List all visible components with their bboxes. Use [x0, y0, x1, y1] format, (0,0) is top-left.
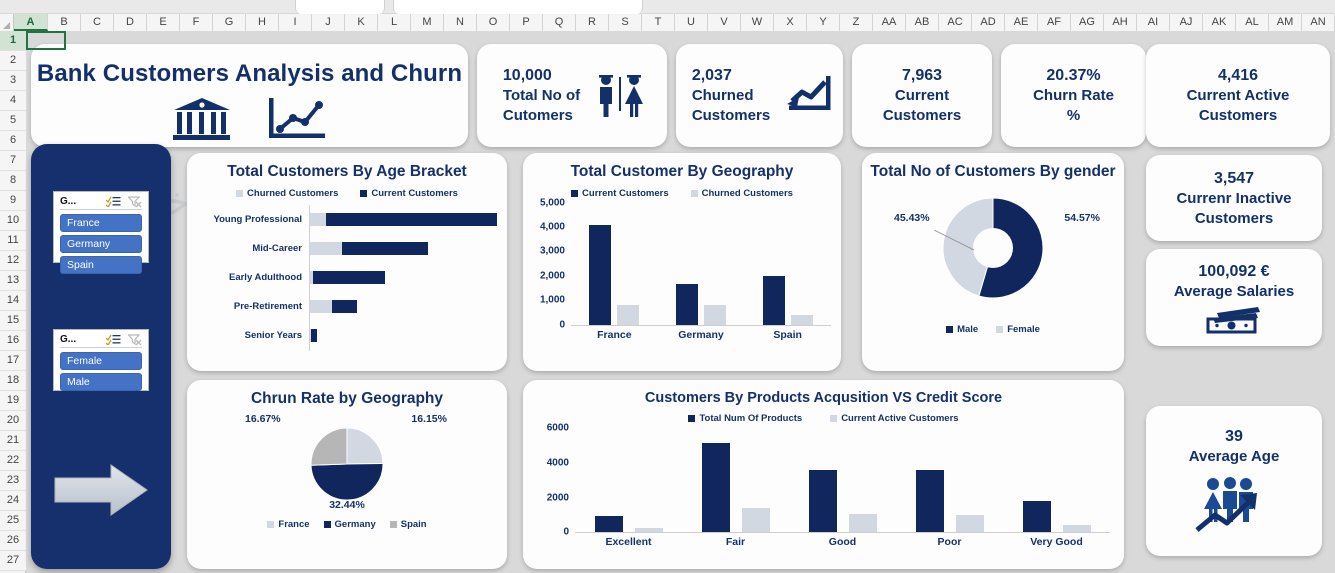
kpi-value-age: 39: [1189, 426, 1280, 447]
legend-item-female: Female: [996, 324, 1040, 335]
bar-series-1: [595, 516, 623, 532]
legend-item-male: Male: [946, 324, 978, 335]
bar-track: [309, 329, 497, 342]
column-header-ag[interactable]: AG: [1071, 14, 1104, 31]
kpi-label-total-line2: Cutomers: [503, 106, 580, 126]
category-axis-line: [571, 325, 831, 326]
column-header-r[interactable]: R: [576, 14, 609, 31]
pie-label-france: 16.15%: [411, 413, 447, 425]
kpi-card-average-salaries: 100,092 € Average Salaries: [1146, 249, 1322, 346]
bar-row: Early Adulthood: [197, 263, 497, 292]
bar-group: [896, 470, 1003, 533]
bar-segment-current: [342, 242, 429, 255]
x-axis-category-label: Poor: [896, 536, 1003, 548]
kpi-card-current-inactive: 3,547 Currenr Inactive Customers: [1146, 155, 1322, 241]
chart-card-churn-rate-geography: Chrun Rate by Geography 16.67% 16.15% 32…: [187, 380, 507, 569]
kpi-label-churn-rate-line1: Churn Rate: [1033, 86, 1114, 106]
column-header-q[interactable]: Q: [543, 14, 576, 31]
legend-label-spain: Spain: [401, 519, 427, 530]
geography-slicer-header: G...: [60, 196, 142, 210]
bar-track: [309, 271, 497, 284]
column-header-ai[interactable]: AI: [1137, 14, 1170, 31]
bar-series-1: [589, 225, 611, 325]
bar-series-2: [635, 528, 663, 532]
row-header-2[interactable]: 2: [0, 51, 26, 71]
chart-title-age-bracket: Total Customers By Age Bracket: [187, 153, 507, 182]
bar-series-2: [617, 305, 639, 325]
bar-series-2: [956, 515, 984, 532]
bar-row: Pre-Retirement: [197, 292, 497, 321]
legend-swatch-spain: [390, 521, 397, 528]
x-axis-category-label: Spain: [744, 329, 831, 341]
bar-segment-current: [326, 213, 497, 226]
bar-group: [1003, 501, 1110, 532]
bar-series-2: [704, 305, 726, 325]
row-header-18[interactable]: 18: [0, 371, 26, 391]
bar-category-label: Young Professional: [197, 214, 309, 225]
column-header-s[interactable]: S: [609, 14, 642, 31]
window-top-strip: [0, 0, 1335, 14]
column-header-ad[interactable]: AD: [972, 14, 1005, 31]
bar-series-2: [742, 508, 770, 532]
bar-series-1: [1023, 501, 1051, 532]
x-axis-category-label: Excellent: [575, 536, 682, 548]
bar-group: [571, 225, 658, 325]
bar-group: [744, 276, 831, 325]
x-axis-category-label: France: [571, 329, 658, 341]
x-axis-category-label: Germany: [658, 329, 745, 341]
legend-label-female: Female: [1007, 324, 1040, 335]
legend-label-total-products: Total Num Of Products: [699, 413, 802, 424]
column-header-f[interactable]: F: [180, 14, 213, 31]
column-header-row: ABCDEFGHIJKLMNOPQRSTUVWXYZAAABACADAEAFAG…: [0, 14, 1335, 31]
row-header-5[interactable]: 5: [0, 111, 26, 131]
legend-item-spain: Spain: [390, 519, 427, 530]
row-header-11[interactable]: 11: [0, 231, 26, 251]
legend-swatch-geo-churned: [691, 190, 698, 197]
row-header-27[interactable]: 27: [0, 551, 26, 571]
leader-line-female: [934, 230, 978, 252]
bar-group: [682, 443, 789, 532]
row-header-3[interactable]: 3: [0, 71, 26, 91]
y-axis-tick: 0: [559, 319, 571, 330]
column-header-v[interactable]: V: [708, 14, 741, 31]
column-header-x[interactable]: X: [774, 14, 807, 31]
category-axis-line: [575, 532, 1110, 533]
bank-icon: [171, 96, 233, 142]
chart-plot-geography: 01,0002,0003,0004,0005,000 FranceGermany…: [571, 203, 831, 341]
trend-down-chart-icon: [783, 74, 833, 116]
legend-swatch-germany: [324, 521, 331, 528]
bar-row: Mid-Career: [197, 234, 497, 263]
kpi-label-active-line2: Customers: [1187, 106, 1290, 126]
y-axis-tick: 1,000: [540, 295, 571, 306]
slicer-option-male[interactable]: Male: [60, 373, 142, 391]
bar-segment-churned: [309, 300, 332, 313]
y-axis-tick: 6000: [547, 423, 575, 434]
row-header-4[interactable]: 4: [0, 91, 26, 111]
pie-slice-france: [347, 428, 383, 464]
legend-label-geo-churned: Churned Customers: [702, 188, 793, 199]
y-axis-tick: 0: [563, 527, 575, 538]
legend-swatch-france: [267, 521, 274, 528]
row-header-15[interactable]: 15: [0, 311, 26, 331]
x-axis-category-label: Very Good: [1003, 536, 1110, 548]
legend-item-current: Current Customers: [360, 188, 458, 199]
kpi-label-churned-line2: Customers: [692, 106, 770, 126]
legend-item-germany: Germany: [324, 519, 376, 530]
row-header-1[interactable]: 1: [0, 31, 26, 51]
bar-group: [575, 516, 682, 532]
row-header-24[interactable]: 24: [0, 491, 26, 511]
kpi-label-total-line1: Total No of: [503, 86, 580, 106]
row-header-6[interactable]: 6: [0, 131, 26, 151]
bar-series-1: [763, 276, 785, 325]
legend-label-current: Current Customers: [371, 188, 458, 199]
chart-plot-products: 0200040006000 ExcellentFairGoodPoorVery …: [575, 428, 1110, 548]
y-axis-tick: 2,000: [540, 270, 571, 281]
bar-category-label: Senior Years: [197, 330, 309, 341]
bar-series-1: [809, 470, 837, 532]
column-header-aa[interactable]: AA: [873, 14, 906, 31]
gender-slicer-header: G...: [60, 334, 142, 348]
kpi-value-inactive: 3,547: [1176, 168, 1291, 189]
column-header-n[interactable]: N: [444, 14, 477, 31]
row-header-19[interactable]: 19: [0, 391, 26, 411]
kpi-card-current-active: 4,416 Current Active Customers: [1146, 44, 1330, 147]
column-header-t[interactable]: T: [642, 14, 675, 31]
row-header-10[interactable]: 10: [0, 211, 26, 231]
excel-dashboard-window: ABCDEFGHIJKLMNOPQRSTUVWXYZAAABACADAEAFAG…: [0, 0, 1335, 573]
chart-card-geography: Total Customer By Geography Current Cust…: [523, 153, 841, 371]
column-header-p[interactable]: P: [510, 14, 543, 31]
bar-group: [789, 470, 896, 532]
bar-row: Young Professional: [197, 205, 497, 234]
gender-slicer-title: G...: [60, 334, 76, 345]
kpi-card-average-age: 39 Average Age: [1146, 406, 1322, 556]
kpi-label-active-line1: Current Active: [1187, 86, 1290, 106]
legend-item-geo-current: Current Customers: [571, 188, 669, 199]
bar-group: [658, 284, 745, 325]
slicer-option-germany[interactable]: Germany: [60, 235, 142, 253]
kpi-label-current-line2: Customers: [883, 106, 961, 126]
multi-select-icon[interactable]: [106, 196, 121, 207]
column-header-d[interactable]: D: [114, 14, 147, 31]
chart-plot-gender: 45.43% 54.57%: [862, 190, 1124, 318]
chart-title-gender: Total No of Customers By gender: [862, 153, 1124, 182]
bar-series-1: [676, 284, 698, 325]
row-header-26[interactable]: 26: [0, 531, 26, 551]
kpi-label-salary: Average Salaries: [1174, 282, 1294, 302]
clear-filter-icon[interactable]: [128, 334, 142, 346]
slicer-option-spain[interactable]: Spain: [60, 256, 142, 274]
bar-track: [309, 213, 497, 226]
column-header-g[interactable]: G: [213, 14, 246, 31]
pie-chart-churn-rate: [310, 427, 384, 501]
kpi-value-churn-rate: 20.37%: [1033, 65, 1114, 86]
kpi-value-churned: 2,037: [692, 65, 770, 86]
bar-series-2: [849, 514, 877, 532]
chart-plot-churn-rate: 16.67% 16.15% 32.44%: [187, 411, 507, 517]
page-title: Bank Customers Analysis and Churn: [31, 60, 468, 88]
bar-segment-current: [313, 271, 385, 284]
bar-segment-current: [311, 329, 318, 342]
column-header-am[interactable]: AM: [1269, 14, 1302, 31]
legend-label-male: Male: [957, 324, 978, 335]
legend-swatch-current: [360, 190, 367, 197]
kpi-label-churn-rate-line2: %: [1033, 106, 1114, 126]
y-axis-tick: 5,000: [540, 197, 571, 208]
legend-swatch-geo-current: [571, 190, 578, 197]
bar-row: Senior Years: [197, 321, 497, 350]
row-header-12[interactable]: 12: [0, 251, 26, 271]
bar-segment-churned: [309, 242, 342, 255]
donut-label-male: 54.57%: [1064, 212, 1100, 224]
kpi-value-total: 10,000: [503, 65, 580, 86]
row-header-7[interactable]: 7: [0, 151, 26, 171]
x-axis-category-label: Good: [789, 536, 896, 548]
column-header-ae[interactable]: AE: [1005, 14, 1038, 31]
column-header-o[interactable]: O: [477, 14, 510, 31]
y-axis-tick: 3,000: [540, 246, 571, 257]
donut-label-female: 45.43%: [894, 212, 930, 224]
chart-legend-products: Total Num Of Products Current Active Cus…: [523, 413, 1124, 424]
pie-slice-germany: [311, 463, 383, 500]
column-header-w[interactable]: W: [741, 14, 774, 31]
bar-track: [309, 242, 497, 255]
kpi-card-current-customers: 7,963 Current Customers: [852, 44, 992, 147]
chart-title-products: Customers By Products Acqusition VS Cred…: [523, 380, 1124, 407]
legend-item-geo-churned: Churned Customers: [691, 188, 793, 199]
row-header-column: 1234567891011121314151617181920212223242…: [0, 31, 26, 573]
kpi-card-churned-customers: 2,037 Churned Customers: [676, 44, 843, 147]
row-header-17[interactable]: 17: [0, 351, 26, 371]
dashboard-title-card: Bank Customers Analysis and Churn: [31, 44, 468, 147]
arrow-right-icon[interactable]: [53, 462, 149, 518]
legend-item-active-customers: Current Active Customers: [830, 413, 958, 424]
line-chart-icon: [267, 96, 329, 142]
row-header-21[interactable]: 21: [0, 431, 26, 451]
x-axis-category-label: Fair: [682, 536, 789, 548]
row-header-9[interactable]: 9: [0, 191, 26, 211]
column-header-ak[interactable]: AK: [1203, 14, 1236, 31]
kpi-card-churn-rate: 20.37% Churn Rate %: [1001, 44, 1146, 147]
legend-label-france: France: [278, 519, 309, 530]
column-header-ac[interactable]: AC: [939, 14, 972, 31]
title-icon-group: [31, 96, 468, 142]
column-header-u[interactable]: U: [675, 14, 708, 31]
legend-swatch-total-products: [688, 415, 695, 422]
bar-segment-churned: [309, 213, 326, 226]
select-all-corner[interactable]: [0, 14, 14, 31]
legend-item-france: France: [267, 519, 309, 530]
column-header-a[interactable]: A: [14, 14, 48, 31]
bar-series-1: [702, 443, 730, 532]
bar-category-label: Mid-Career: [197, 243, 309, 254]
bar-track: [309, 300, 497, 313]
bar-category-label: Early Adulthood: [197, 272, 309, 283]
legend-label-geo-current: Current Customers: [582, 188, 669, 199]
geography-slicer-title: G...: [60, 196, 76, 207]
kpi-label-inactive-line2: Customers: [1176, 209, 1291, 229]
gender-slicer[interactable]: G...: [53, 329, 149, 391]
ribbon-tab-b[interactable]: [393, 0, 643, 14]
multi-select-icon[interactable]: [106, 334, 121, 345]
column-header-h[interactable]: H: [246, 14, 279, 31]
chart-legend-age-bracket: Churned Customers Current Customers: [187, 188, 507, 199]
clear-filter-icon[interactable]: [128, 196, 142, 208]
legend-swatch-male: [946, 326, 953, 333]
row-header-16[interactable]: 16: [0, 331, 26, 351]
column-header-y[interactable]: Y: [807, 14, 840, 31]
kpi-card-total-customers: 10,000 Total No of Cutomers: [477, 44, 667, 147]
column-header-m[interactable]: M: [411, 14, 444, 31]
dashboard-canvas: خستان Bank Customers Analysis and Churn: [26, 31, 1335, 573]
slicer-option-female[interactable]: Female: [60, 352, 142, 370]
chart-plot-age-bracket: Young ProfessionalMid-CareerEarly Adulth…: [197, 205, 497, 353]
chart-title-geography: Total Customer By Geography: [523, 153, 841, 182]
legend-swatch-active-customers: [830, 415, 837, 422]
chart-card-gender: Total No of Customers By gender 45.43% 5…: [862, 153, 1124, 371]
column-header-j[interactable]: J: [312, 14, 345, 31]
column-header-ab[interactable]: AB: [906, 14, 939, 31]
chart-card-age-bracket: Total Customers By Age Bracket Churned C…: [187, 153, 507, 371]
ribbon-tab-a[interactable]: [295, 0, 385, 14]
bar-segment-current: [332, 300, 357, 313]
row-header-23[interactable]: 23: [0, 471, 26, 491]
row-header-8[interactable]: 8: [0, 171, 26, 191]
legend-label-germany: Germany: [335, 519, 376, 530]
money-icon: [1203, 306, 1265, 334]
row-header-20[interactable]: 20: [0, 411, 26, 431]
kpi-label-churned-line1: Churned: [692, 86, 770, 106]
legend-label-active-customers: Current Active Customers: [841, 413, 958, 424]
male-female-icon: [593, 71, 647, 119]
column-header-af[interactable]: AF: [1038, 14, 1071, 31]
row-header-22[interactable]: 22: [0, 451, 26, 471]
pie-slice-spain: [311, 428, 347, 465]
column-header-k[interactable]: K: [345, 14, 378, 31]
kpi-value-current: 7,963: [883, 65, 961, 86]
geography-slicer[interactable]: G...: [53, 191, 149, 263]
legend-swatch-churned: [236, 190, 243, 197]
bar-series-1: [916, 470, 944, 533]
row-header-14[interactable]: 14: [0, 291, 26, 311]
kpi-label-inactive-line1: Currenr Inactive: [1176, 189, 1291, 209]
bar-category-label: Pre-Retirement: [197, 301, 309, 312]
column-header-i[interactable]: I: [279, 14, 312, 31]
y-axis-tick: 4000: [547, 458, 575, 469]
people-growth-icon: [1191, 474, 1277, 536]
slicer-option-france[interactable]: France: [60, 214, 142, 232]
legend-item-churned: Churned Customers: [236, 188, 338, 199]
kpi-value-active: 4,416: [1187, 65, 1290, 86]
y-axis-tick: 2000: [547, 492, 575, 503]
kpi-value-salary: 100,092 €: [1174, 261, 1294, 282]
kpi-label-current-line1: Current: [883, 86, 961, 106]
kpi-label-age: Average Age: [1189, 447, 1280, 467]
row-header-13[interactable]: 13: [0, 271, 26, 291]
column-header-al[interactable]: AL: [1236, 14, 1269, 31]
column-header-c[interactable]: C: [81, 14, 114, 31]
column-header-b[interactable]: B: [48, 14, 81, 31]
column-header-an[interactable]: AN: [1302, 14, 1335, 31]
legend-item-total-products: Total Num Of Products: [688, 413, 802, 424]
legend-swatch-female: [996, 326, 1003, 333]
column-header-ah[interactable]: AH: [1104, 14, 1137, 31]
chart-legend-churn-rate: France Germany Spain: [187, 519, 507, 530]
chart-card-products-credit-score: Customers By Products Acqusition VS Cred…: [523, 380, 1124, 569]
pie-label-spain: 16.67%: [245, 413, 281, 425]
value-axis-line: [309, 205, 310, 351]
chart-title-churn-rate: Chrun Rate by Geography: [187, 380, 507, 409]
bar-series-2: [791, 315, 813, 325]
bar-series-2: [1063, 525, 1091, 532]
active-cell-a1[interactable]: [26, 31, 66, 50]
column-header-aj[interactable]: AJ: [1170, 14, 1203, 31]
column-header-e[interactable]: E: [147, 14, 180, 31]
column-header-z[interactable]: Z: [840, 14, 873, 31]
y-axis-tick: 4,000: [540, 221, 571, 232]
row-header-25[interactable]: 25: [0, 511, 26, 531]
sidebar-filter-panel: G...: [31, 144, 171, 569]
legend-label-churned: Churned Customers: [247, 188, 338, 199]
chart-legend-gender: Male Female: [862, 324, 1124, 335]
column-header-l[interactable]: L: [378, 14, 411, 31]
